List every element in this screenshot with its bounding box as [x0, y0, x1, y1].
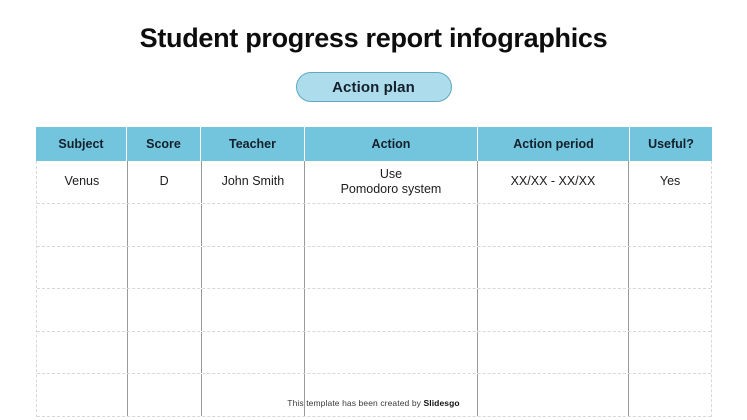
cell-action	[305, 289, 477, 331]
cell-action	[305, 332, 477, 374]
cell-useful	[629, 204, 711, 246]
cell-teacher	[202, 332, 306, 374]
footer-text: This template has been created by	[287, 398, 423, 408]
cell-score	[128, 204, 202, 246]
cell-score	[128, 332, 202, 374]
table-row[interactable]	[37, 247, 711, 290]
cell-action	[305, 247, 477, 289]
table-row[interactable]	[37, 204, 711, 247]
cell-score	[128, 289, 202, 331]
table-row[interactable]	[37, 289, 711, 332]
table-row[interactable]	[37, 332, 711, 375]
table-row[interactable]: Venus D John Smith Use Pomodoro system X…	[37, 161, 711, 204]
table-header-row: Subject Score Teacher Action Action peri…	[36, 127, 712, 161]
cell-useful	[629, 247, 711, 289]
cell-subject	[37, 374, 128, 416]
action-plan-table: Subject Score Teacher Action Action peri…	[36, 127, 712, 374]
badge-container: Action plan	[0, 72, 747, 102]
cell-subject	[37, 247, 128, 289]
column-header-subject: Subject	[36, 127, 127, 161]
column-header-action: Action	[305, 127, 478, 161]
cell-subject: Venus	[37, 161, 128, 203]
cell-score	[128, 247, 202, 289]
cell-teacher	[202, 374, 306, 416]
cell-teacher	[202, 247, 306, 289]
cell-subject	[37, 332, 128, 374]
column-header-useful: Useful?	[630, 127, 712, 161]
cell-action-period	[478, 247, 630, 289]
cell-action-period	[478, 374, 630, 416]
cell-teacher	[202, 204, 306, 246]
cell-action-period	[478, 204, 630, 246]
column-header-score: Score	[127, 127, 201, 161]
cell-action	[305, 204, 477, 246]
table-row[interactable]	[37, 374, 711, 417]
column-header-action-period: Action period	[478, 127, 630, 161]
cell-useful	[629, 374, 711, 416]
footer-credit: This template has been created by Slides…	[0, 398, 747, 408]
cell-action-period	[478, 289, 630, 331]
action-plan-badge[interactable]: Action plan	[296, 72, 452, 102]
cell-action	[305, 374, 477, 416]
cell-teacher: John Smith	[202, 161, 306, 203]
cell-score: D	[128, 161, 202, 203]
cell-useful	[629, 332, 711, 374]
cell-action-period: XX/XX - XX/XX	[478, 161, 630, 203]
table-body: Venus D John Smith Use Pomodoro system X…	[36, 161, 712, 417]
cell-action: Use Pomodoro system	[305, 161, 477, 203]
slide-canvas: Student progress report infographics Act…	[0, 0, 747, 420]
footer-brand[interactable]: Slidesgo	[423, 398, 459, 408]
cell-subject	[37, 289, 128, 331]
cell-subject	[37, 204, 128, 246]
cell-teacher	[202, 289, 306, 331]
cell-useful	[629, 289, 711, 331]
column-header-teacher: Teacher	[201, 127, 305, 161]
cell-useful: Yes	[629, 161, 711, 203]
cell-score	[128, 374, 202, 416]
cell-action-period	[478, 332, 630, 374]
page-title: Student progress report infographics	[0, 22, 747, 54]
